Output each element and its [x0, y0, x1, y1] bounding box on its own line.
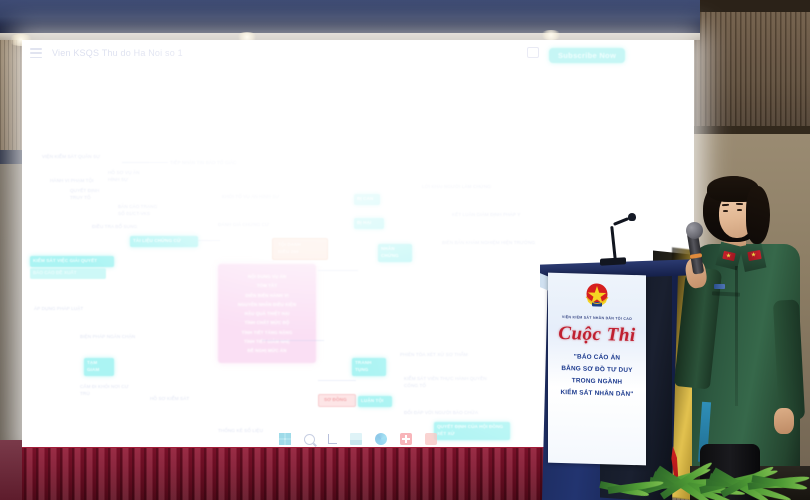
mindmap-node[interactable]: BÁO CÁO ĐỀ XUẤT	[30, 268, 106, 279]
banner-subtitle-line: KIỂM SÁT NHÂN DÂN"	[548, 386, 646, 401]
start-icon[interactable]	[279, 433, 291, 445]
mindmap-node[interactable]: BẢN CÁO TRẠNG SỐ 01/CT-VKS	[118, 204, 188, 218]
add-app-icon[interactable]	[400, 433, 412, 445]
mindmap-node[interactable]: BIỆN PHÁP NGĂN CHẶN	[80, 334, 144, 341]
wood-panel-top-trim	[690, 0, 810, 12]
podium-microphone-head	[628, 213, 636, 221]
planter-vase	[700, 444, 760, 500]
speaker-shirt-placket	[735, 266, 738, 406]
wall-lower-left	[0, 164, 22, 454]
edge-icon[interactable]	[375, 433, 387, 445]
mindmap-node[interactable]: HÀNH VI PHẠM TỘI	[50, 178, 102, 185]
mindmap-node[interactable]: KIỂM SÁT VIỆC GIẢI QUYẾT	[30, 256, 114, 267]
app-title: Vien KSQS Thu do Ha Noi so 1	[52, 48, 183, 58]
speaker-eye	[737, 209, 742, 211]
mindmap-node[interactable]: PHIÊN TÒA XÉT XỬ SƠ THẨM	[400, 352, 494, 359]
presentation-scene: Vien KSQS Thu do Ha Noi so 1 Subscribe N…	[0, 0, 810, 500]
wood-panel-wall-right	[690, 0, 810, 132]
banner-headline: Cuộc Thi	[548, 323, 646, 348]
connector-line	[318, 380, 356, 381]
mindmap-node[interactable]: KHỞI TỐ VỤ ÁN HÌNH SỰ	[222, 194, 296, 201]
mindmap-node[interactable]: KẾT LUẬN GIÁM ĐỊNH PHÁP Y	[452, 212, 544, 219]
mindmap-node[interactable]: TÀI LIỆU CHỨNG CỨ	[130, 236, 198, 247]
mindmap-node[interactable]: TRANH TỤNG	[352, 358, 386, 376]
speaker-right-hand	[774, 408, 794, 434]
mindmap-node[interactable]: VIỆN KIỂM SÁT QUÂN SỰ	[42, 154, 116, 161]
wood-panel-wall-left	[0, 38, 20, 158]
banner-subtitle: "BÁO CÁO ÁNBẰNG SƠ ĐỒ TƯ DUYTRONG NGÀNHK…	[548, 351, 646, 401]
app-icon[interactable]	[425, 433, 437, 445]
mindmap-node[interactable]: ÁP DỤNG PHÁP LUẬT	[34, 306, 94, 313]
hamburger-icon[interactable]	[30, 48, 42, 58]
connector-line	[262, 340, 324, 341]
mindmap-node[interactable]: TIẾP NHẬN TIN BÁO TỐ GIÁC	[170, 160, 254, 167]
mindmap-node[interactable]: NỘI DUNG VỤ ÁN TÓM TẮT DIỄN BIẾN HÀNH VI…	[218, 264, 316, 363]
stage-skirt	[0, 448, 545, 500]
ceiling-lip	[0, 33, 700, 40]
widgets-icon[interactable]	[350, 433, 362, 445]
mindmap-node[interactable]: ĐỐI ĐÁP VỚI NGƯỜI BÀO CHỮA	[404, 410, 500, 417]
connector-line	[122, 162, 168, 163]
task-view-icon[interactable]	[328, 434, 337, 444]
mindmap-node[interactable]: LUẬN TỘI	[358, 396, 392, 407]
mindmap-node[interactable]: TỘI DANH ĐIỀU 260	[272, 238, 328, 260]
mindmap-node[interactable]: ĐÁNH GIÁ CHỨNG CỨ	[218, 222, 276, 229]
vietnam-national-emblem-icon	[582, 282, 612, 315]
mindmap-node[interactable]: NHÂN CHỨNG	[378, 244, 412, 262]
mindmap-node[interactable]: BỊ HẠI	[354, 218, 384, 229]
subscribe-now-button[interactable]: Subscribe Now	[549, 48, 625, 63]
mindmap-node[interactable]: BỊ CAN	[354, 194, 380, 205]
mindmap-node[interactable]: SƠ ĐỒNG	[318, 394, 356, 407]
mindmap-node[interactable]: HỒ SƠ KIỂM SÁT	[150, 396, 212, 403]
mindmap-node[interactable]: BIÊN BẢN KHÁM NGHIỆM HIỆN TRƯỜNG	[442, 240, 538, 247]
search-icon[interactable]	[304, 434, 315, 445]
podium-banner: VIỆN KIỂM SÁT NHÂN DÂN TỐI CAO Cuộc Thi …	[548, 273, 646, 466]
mindmap-node[interactable]: LỜI KHAI NGƯỜI LÀM CHỨNG	[422, 184, 508, 191]
speaker-hair-side	[746, 186, 770, 244]
speaker-eye	[723, 210, 728, 212]
connector-line	[318, 270, 358, 271]
connector-line	[198, 240, 220, 241]
mindmap-node[interactable]: TẠM GIAM	[84, 358, 114, 376]
mindmap-node[interactable]: HỒ SƠ VỤ ÁN HÌNH SỰ	[108, 170, 170, 184]
speaker-name-badge	[714, 284, 725, 289]
banner-organization: VIỆN KIỂM SÁT NHÂN DÂN TỐI CAO	[548, 315, 646, 322]
speaker-eyebrow	[736, 203, 743, 205]
curtain-left-edge	[0, 440, 22, 500]
mindmap-node[interactable]: QUYẾT ĐỊNH TRUY TỐ	[70, 188, 124, 202]
mindmap-node[interactable]: CẤM ĐI KHỎI NƠI CƯ TRÚ	[80, 384, 136, 398]
window-restore-icon[interactable]	[527, 47, 539, 58]
ceiling-light	[540, 30, 562, 40]
mindmap-node[interactable]: KIỂM SÁT VIÊN THỰC HÀNH QUYỀN CÔNG TỐ	[404, 376, 500, 390]
mindmap-node[interactable]: ĐIỀU TRA BỔ SUNG	[92, 224, 152, 231]
